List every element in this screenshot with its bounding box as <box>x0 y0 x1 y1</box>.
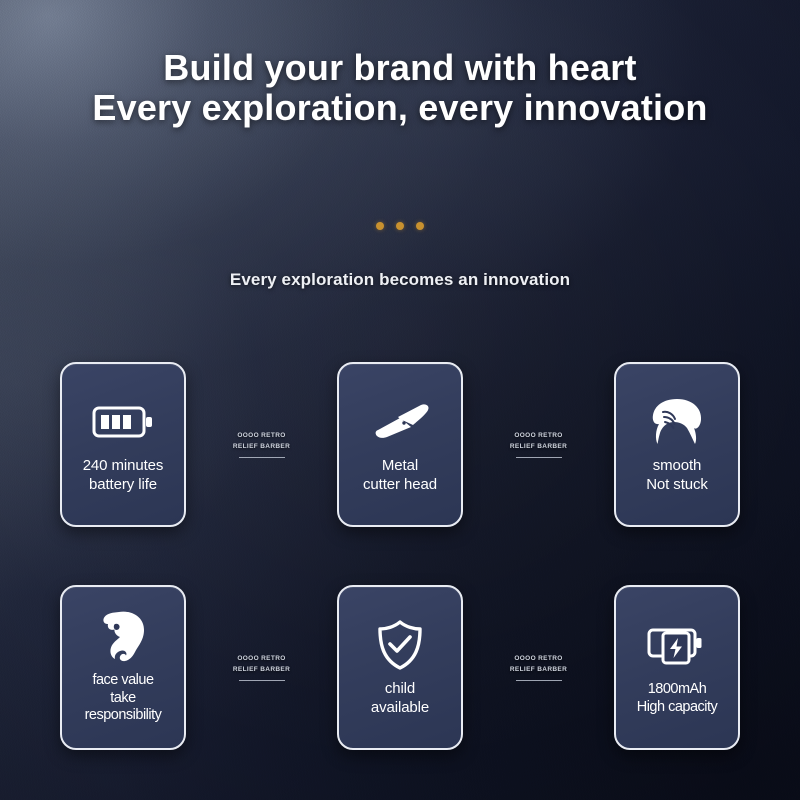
page-title: Build your brand with heart Every explor… <box>0 48 800 129</box>
headline-line-2: Every exploration, every innovation <box>0 88 800 128</box>
label-line-3: responsibility <box>85 707 162 723</box>
feature-card-label: Metal cutter head <box>363 457 437 494</box>
separator-rule <box>239 680 285 681</box>
dot-icon <box>396 222 404 230</box>
feature-card-label: face value take responsibility <box>85 672 162 725</box>
feature-card-metal-cutter-head[interactable]: Metal cutter head <box>337 362 463 527</box>
feature-card-label: smooth Not stuck <box>646 457 708 494</box>
feature-card-smooth-not-stuck[interactable]: smooth Not stuck <box>614 362 740 527</box>
label-line-2: cutter head <box>363 476 437 493</box>
label-line-1: 1800mAh <box>648 681 707 697</box>
hairstyle-icon <box>644 393 710 451</box>
separator-line-1: OOOO RETRO <box>514 432 562 439</box>
separator-line-1: OOOO RETRO <box>237 432 285 439</box>
feature-row-2: face value take responsibility OOOO RETR… <box>60 585 740 750</box>
separator-rule <box>516 457 562 458</box>
separator-line-2: RELIEF BARBER <box>233 443 290 450</box>
label-line-1: face value <box>92 672 153 688</box>
separator-rule <box>516 680 562 681</box>
separator-line-1: OOOO RETRO <box>514 655 562 662</box>
separator-line-2: RELIEF BARBER <box>510 443 567 450</box>
label-line-1: smooth <box>653 457 702 474</box>
separator-text: OOOO RETRO RELIEF BARBER <box>233 431 290 452</box>
feature-card-label: child available <box>371 680 429 717</box>
decorative-dots <box>0 222 800 230</box>
woman-hair-profile-icon <box>94 608 152 666</box>
label-line-1: 240 minutes <box>83 457 164 474</box>
battery-charging-bolt-icon <box>645 617 709 675</box>
label-line-2: take <box>110 690 135 706</box>
label-line-1: Metal <box>382 457 418 474</box>
feature-grid: 240 minutes battery life OOOO RETRO RELI… <box>60 362 740 750</box>
product-feature-poster: Build your brand with heart Every explor… <box>0 0 800 800</box>
separator-text: OOOO RETRO RELIEF BARBER <box>233 654 290 675</box>
separator-brand-mark: OOOO RETRO RELIEF BARBER <box>484 654 594 680</box>
feature-row-1: 240 minutes battery life OOOO RETRO RELI… <box>60 362 740 527</box>
separator-text: OOOO RETRO RELIEF BARBER <box>510 431 567 452</box>
separator-brand-mark: OOOO RETRO RELIEF BARBER <box>207 654 317 680</box>
separator-rule <box>239 457 285 458</box>
feature-card-label: 240 minutes battery life <box>83 457 164 494</box>
battery-three-bars-icon <box>92 393 154 451</box>
separator-brand-mark: OOOO RETRO RELIEF BARBER <box>207 431 317 457</box>
clipper-blade-knife-icon <box>367 393 433 451</box>
feature-card-battery-life[interactable]: 240 minutes battery life <box>60 362 186 527</box>
label-line-2: Not stuck <box>646 476 708 493</box>
feature-card-label: 1800mAh High capacity <box>637 681 718 716</box>
label-line-1: child <box>385 680 415 697</box>
label-line-2: available <box>371 699 429 716</box>
subtitle: Every exploration becomes an innovation <box>0 270 800 290</box>
label-line-2: battery life <box>89 476 157 493</box>
feature-card-face-value[interactable]: face value take responsibility <box>60 585 186 750</box>
label-line-2: High capacity <box>637 699 718 715</box>
separator-line-1: OOOO RETRO <box>237 655 285 662</box>
shield-check-icon <box>375 616 425 674</box>
separator-text: OOOO RETRO RELIEF BARBER <box>510 654 567 675</box>
feature-card-child-available[interactable]: child available <box>337 585 463 750</box>
separator-line-2: RELIEF BARBER <box>233 666 290 673</box>
dot-icon <box>376 222 384 230</box>
headline-line-1: Build your brand with heart <box>163 47 636 88</box>
feature-card-high-capacity[interactable]: 1800mAh High capacity <box>614 585 740 750</box>
separator-line-2: RELIEF BARBER <box>510 666 567 673</box>
dot-icon <box>416 222 424 230</box>
separator-brand-mark: OOOO RETRO RELIEF BARBER <box>484 431 594 457</box>
